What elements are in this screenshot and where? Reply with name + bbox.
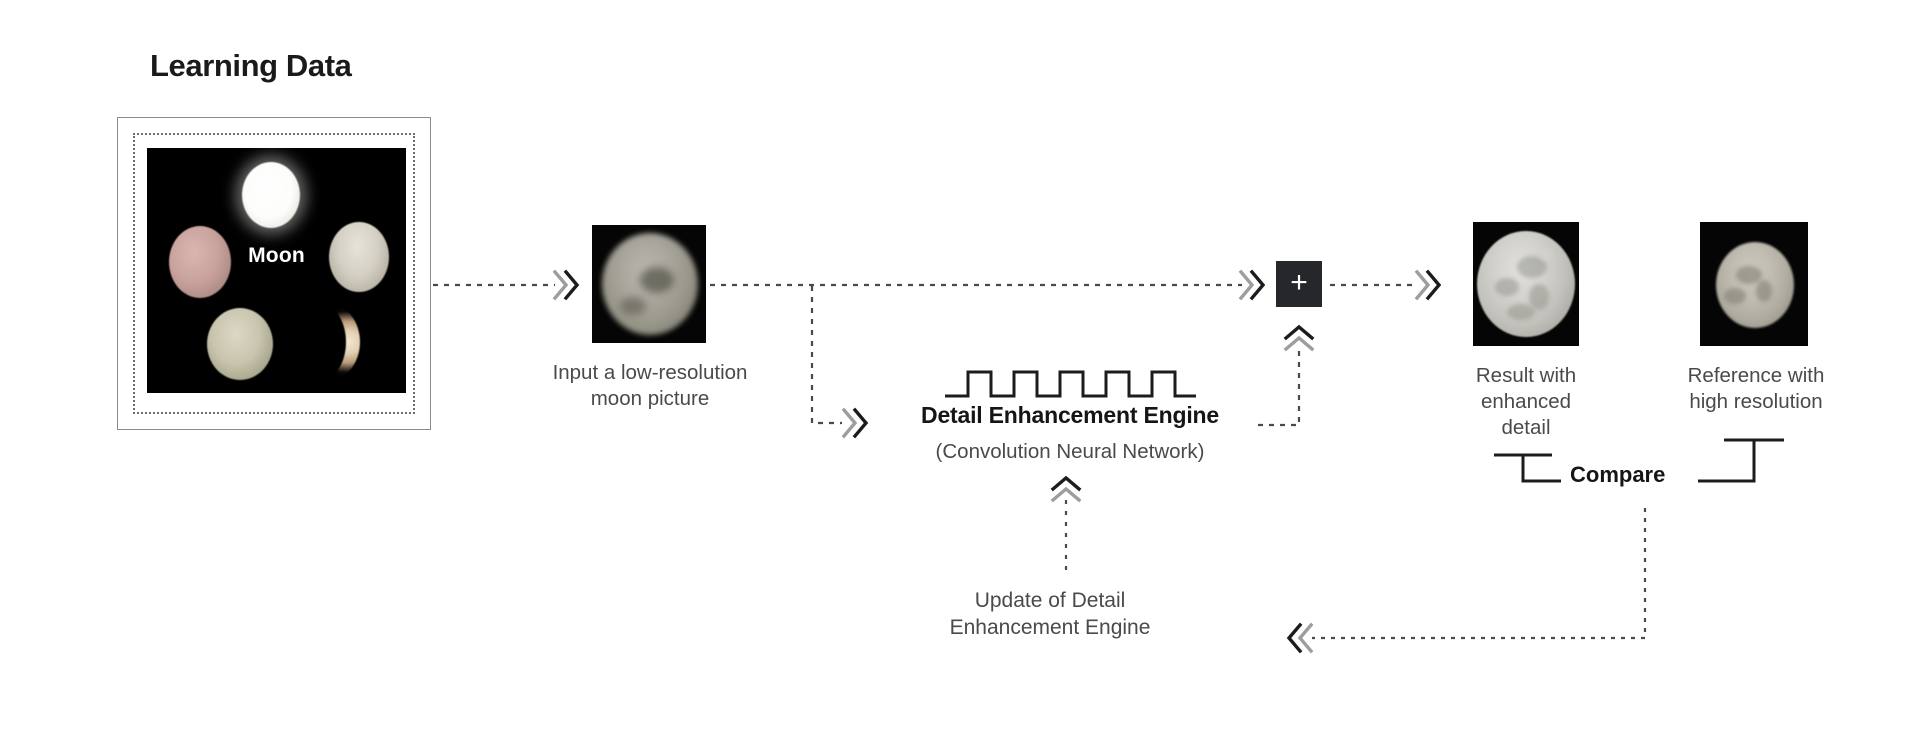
learning-data-title: Learning Data: [150, 48, 352, 84]
addition-node: +: [1276, 261, 1322, 307]
moon-label: Moon: [147, 244, 406, 268]
result-caption: Result with enhanced detail: [1455, 363, 1597, 442]
plus-symbol: +: [1290, 268, 1308, 298]
result-crater-4: [1507, 304, 1535, 320]
reference-crater-3: [1756, 280, 1772, 302]
compare-label: Compare: [1570, 462, 1665, 488]
result-caption-line3: detail: [1455, 415, 1597, 441]
input-caption: Input a low-resolution moon picture: [505, 360, 795, 412]
wire-plus-to-result: [1330, 272, 1439, 298]
square-wave-signal: [945, 372, 1196, 396]
reference-moon-disc: [1716, 242, 1794, 328]
result-moon-disc: [1477, 231, 1575, 337]
reference-caption-line1: Reference with: [1660, 363, 1852, 389]
reference-highres-image: [1700, 222, 1808, 346]
input-moon-mare-1: [640, 267, 674, 293]
diagram-canvas: Learning Data Moon Input a low-resolutio…: [0, 0, 1920, 729]
update-caption-line2: Enhancement Engine: [880, 615, 1220, 642]
reference-crater-1: [1736, 266, 1762, 284]
compare-bracket-reference: [1698, 440, 1784, 481]
moon-thumb-full-bright: [242, 162, 300, 228]
wire-input-to-engine: [812, 286, 866, 436]
result-crater-2: [1495, 278, 1519, 296]
input-caption-line1: Input a low-resolution: [505, 360, 795, 386]
engine-title: Detail Enhancement Engine: [885, 402, 1255, 429]
input-moon-mare-2: [620, 297, 646, 315]
update-caption-line1: Update of Detail: [880, 588, 1220, 615]
wire-input-to-branch: [710, 272, 1263, 298]
reference-crater-2: [1724, 288, 1746, 304]
result-crater-5: [1539, 248, 1553, 260]
learning-data-image: Moon: [147, 148, 406, 393]
reference-caption-line2: high resolution: [1660, 389, 1852, 415]
compare-bracket-result: [1494, 455, 1561, 481]
input-low-resolution-image: [592, 225, 706, 343]
wire-update-to-engine: [1053, 478, 1079, 570]
moon-thumb-grey: [207, 308, 273, 380]
reference-caption: Reference with high resolution: [1660, 363, 1852, 415]
wire-engine-to-plus: [1258, 327, 1312, 425]
wire-compare-feedback: [1289, 508, 1645, 651]
result-caption-line2: enhanced: [1455, 389, 1597, 415]
result-caption-line1: Result with: [1455, 363, 1597, 389]
moon-thumb-crescent: [302, 305, 360, 379]
wire-learningdata-to-input: [433, 272, 577, 298]
result-enhanced-image: [1473, 222, 1579, 346]
engine-subtitle: (Convolution Neural Network): [885, 440, 1255, 464]
update-feedback-caption: Update of Detail Enhancement Engine: [880, 588, 1220, 642]
input-caption-line2: moon picture: [505, 386, 795, 412]
